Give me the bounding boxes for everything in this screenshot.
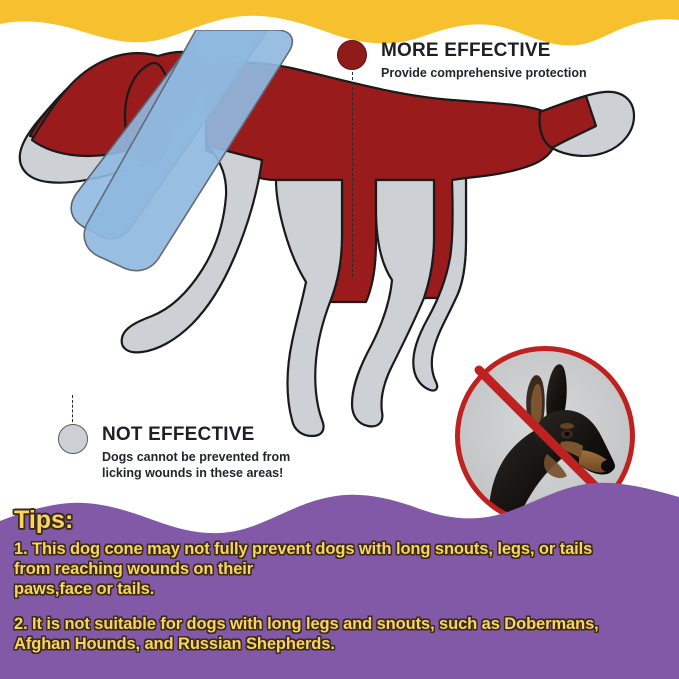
leader-line-more-effective xyxy=(352,72,353,277)
tips-spacer xyxy=(14,599,665,614)
callout-more-effective-subtitle: Provide comprehensive protection xyxy=(381,65,587,81)
tips-panel: Tips: 1. This dog cone may not fully pre… xyxy=(0,499,679,679)
callout-more-effective: MORE EFFECTIVE Provide comprehensive pro… xyxy=(337,40,587,81)
callout-not-effective-text: NOT EFFECTIVE Dogs cannot be prevented f… xyxy=(102,424,290,481)
tip-item-1: 1. This dog cone may not fully prevent d… xyxy=(14,539,665,599)
callout-not-effective-title: NOT EFFECTIVE xyxy=(102,425,290,445)
tip-item-2: 2. It is not suitable for dogs with long… xyxy=(14,614,665,654)
callout-more-effective-text: MORE EFFECTIVE Provide comprehensive pro… xyxy=(381,40,587,81)
red-dot-marker-icon xyxy=(337,40,367,70)
infographic-page: MORE EFFECTIVE Provide comprehensive pro… xyxy=(0,0,679,679)
tips-heading: Tips: xyxy=(14,507,665,535)
callout-not-effective: NOT EFFECTIVE Dogs cannot be prevented f… xyxy=(58,424,290,481)
callout-more-effective-title: MORE EFFECTIVE xyxy=(381,41,587,61)
gray-dot-marker-icon xyxy=(58,424,88,454)
leader-line-not-effective xyxy=(72,395,73,427)
callout-not-effective-subtitle: Dogs cannot be prevented from licking wo… xyxy=(102,449,290,481)
